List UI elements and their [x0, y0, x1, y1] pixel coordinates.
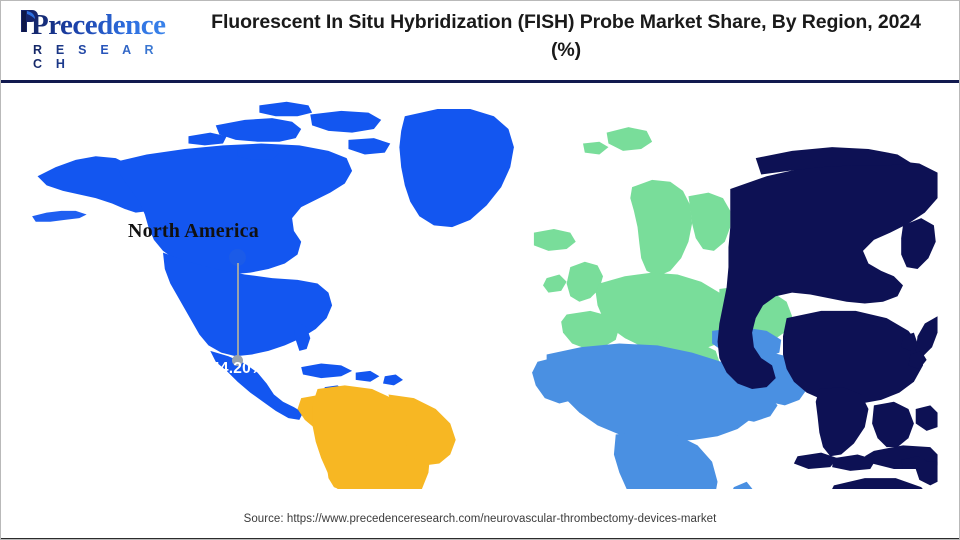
footer-divider	[1, 538, 959, 539]
page-header: Precedence R E S E A R C H Fluorescent I…	[1, 1, 959, 83]
leaf-p-logo-icon	[19, 8, 39, 34]
page-title: Fluorescent In Situ Hybridization (FISH)…	[201, 9, 931, 64]
map-region-north-america[interactable]	[32, 102, 514, 420]
chart-page: Precedence R E S E A R C H Fluorescent I…	[0, 0, 960, 540]
map-region-latin-america[interactable]	[298, 385, 456, 489]
brand-logo[interactable]: Precedence R E S E A R C H	[17, 13, 177, 69]
page-footer: Source: https://www.precedenceresearch.c…	[1, 509, 959, 527]
map-region-asia-pacific[interactable]	[718, 147, 938, 489]
world-map-svg	[23, 89, 943, 489]
brand-subtitle: R E S E A R C H	[17, 43, 177, 71]
source-citation[interactable]: Source: https://www.precedenceresearch.c…	[244, 513, 717, 525]
brand-name: Precedence	[17, 11, 177, 40]
world-map-chart: North America 44.20%	[1, 83, 960, 495]
